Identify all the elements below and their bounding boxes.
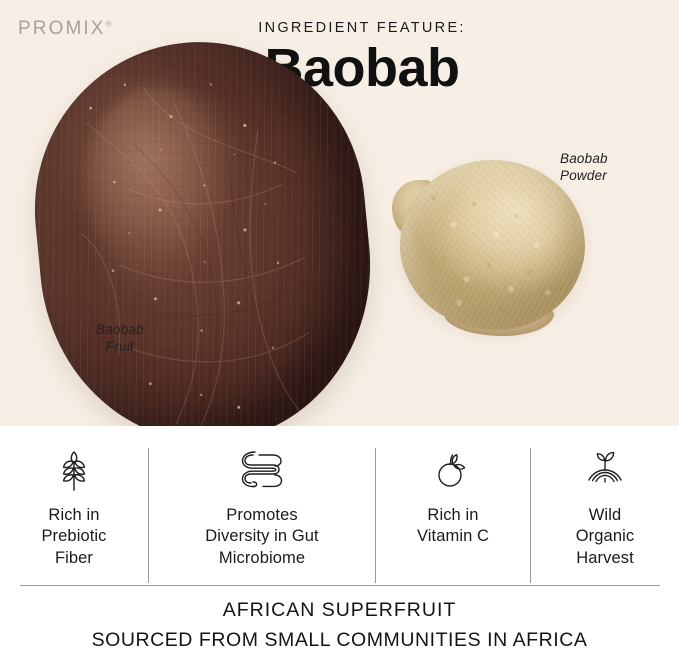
powder-grain-texture: [400, 160, 585, 330]
footer-section: AFRICAN SUPERFRUIT SOURCED FROM SMALL CO…: [0, 596, 679, 658]
powder-mound: [400, 160, 585, 330]
benefit-label-line: Vitamin C: [417, 526, 489, 547]
benefit-label: Rich in Prebiotic Fiber: [41, 505, 106, 569]
benefit-label-line: Diversity in Gut: [205, 526, 318, 547]
footer-line-2: SOURCED FROM SMALL COMMUNITIES IN AFRICA: [0, 626, 679, 656]
benefit-item-vitamin-c: Rich in Vitamin C: [376, 426, 530, 588]
benefit-label-line: Microbiome: [205, 548, 318, 569]
intestine-icon: [239, 448, 285, 492]
benefit-label-line: Fiber: [41, 548, 106, 569]
citrus-fruit-icon: [433, 448, 473, 492]
sprout-field-icon: [584, 448, 626, 492]
benefit-label-line: Rich in: [417, 505, 489, 526]
fruit-fiber-veins: [20, 27, 387, 426]
caption-baobab-powder: Baobab Powder: [560, 150, 670, 185]
baobab-fruit-image: [38, 42, 368, 426]
hero-section: PROMIX® INGREDIENT FEATURE: Baobab: [0, 0, 679, 426]
benefit-item-wild-organic-harvest: Wild Organic Harvest: [531, 426, 679, 588]
benefit-label: Promotes Diversity in Gut Microbiome: [205, 505, 318, 569]
benefit-label-line: Prebiotic: [41, 526, 106, 547]
benefit-label-line: Wild: [576, 505, 634, 526]
benefit-label-line: Harvest: [576, 548, 634, 569]
benefit-item-gut-microbiome: Promotes Diversity in Gut Microbiome: [149, 426, 375, 588]
brand-name: PROMIX: [18, 18, 106, 39]
benefit-label-line: Promotes: [205, 505, 318, 526]
benefit-label-line: Organic: [576, 526, 634, 547]
benefits-section: Rich in Prebiotic Fiber Promotes Diversi…: [0, 426, 679, 588]
caption-baobab-fruit: Baobab Fruit: [60, 321, 180, 356]
benefits-bottom-divider: [20, 585, 660, 586]
benefit-label-line: Rich in: [41, 505, 106, 526]
caption-fruit-line2: Fruit: [60, 338, 180, 355]
registered-trademark-icon: ®: [106, 20, 112, 29]
benefit-label: Rich in Vitamin C: [417, 505, 489, 548]
caption-fruit-line1: Baobab: [60, 321, 180, 338]
brand-logo: PROMIX®: [18, 18, 111, 40]
footer-line-1: AFRICAN SUPERFRUIT: [0, 596, 679, 626]
benefit-label: Wild Organic Harvest: [576, 505, 634, 569]
wheat-stalk-icon: [57, 448, 91, 492]
baobab-fruit-body: [20, 27, 387, 426]
caption-powder-line1: Baobab: [560, 150, 670, 167]
benefit-item-prebiotic-fiber: Rich in Prebiotic Fiber: [0, 426, 148, 588]
caption-powder-line2: Powder: [560, 167, 670, 184]
hero-kicker: INGREDIENT FEATURE:: [237, 20, 487, 36]
